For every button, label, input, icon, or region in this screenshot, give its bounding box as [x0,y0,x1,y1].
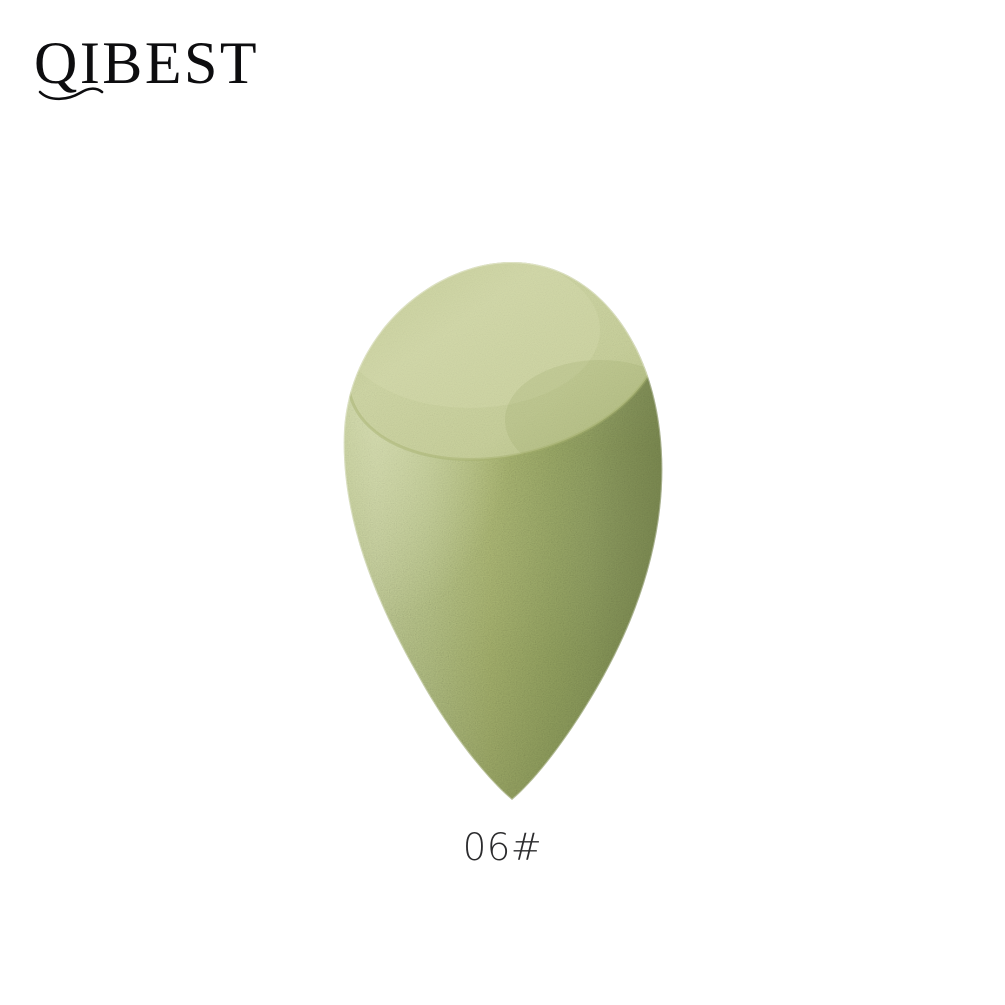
product-image-canvas: QIBEST [0,0,1005,1005]
shade-label: 06# [0,826,1005,870]
